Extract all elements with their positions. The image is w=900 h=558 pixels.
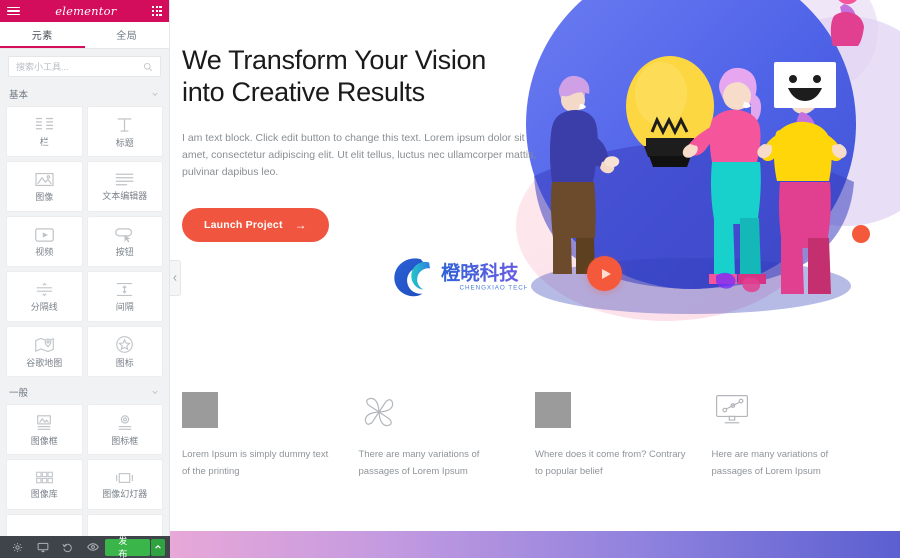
widget-label: 图像框	[31, 437, 58, 446]
bottom-gradient-band	[170, 531, 900, 558]
video-play-icon	[34, 227, 55, 243]
spacer-icon	[114, 281, 135, 298]
widget-label: 图像库	[31, 490, 58, 499]
logo-text-cn: 橙晓科技	[441, 261, 519, 284]
star-icon	[115, 335, 134, 354]
chengxiao-tech-logo: 橙晓科技 CHENGXIAO TECH	[392, 250, 527, 302]
widget-column[interactable]: 栏	[6, 106, 83, 157]
divider-icon	[34, 281, 55, 298]
image-box-icon	[34, 414, 54, 432]
elementor-brand-logo: elementor	[55, 4, 116, 18]
search-box[interactable]	[8, 56, 161, 77]
image-gallery-icon	[34, 470, 55, 485]
feature-text: There are many variations of passages of…	[359, 447, 516, 480]
feature-icon-wrap	[535, 392, 692, 438]
responsive-monitor-icon[interactable]	[30, 536, 55, 558]
search-widgets-wrap	[0, 49, 169, 83]
widget-image-box[interactable]: 图像框	[6, 404, 83, 455]
google-map-icon	[34, 336, 55, 354]
widget-label: 图像	[35, 193, 53, 202]
monitor-chart-icon	[712, 392, 752, 430]
text-editor-icon	[114, 172, 135, 187]
chevron-left-icon	[172, 274, 178, 282]
widget-text-editor[interactable]: 文本编辑器	[87, 161, 164, 212]
section-header-general[interactable]: 一般	[0, 381, 169, 403]
widget-grid-basic: 栏 标题 图像	[0, 105, 169, 381]
image-placeholder-icon	[182, 392, 218, 428]
preview-eye-icon[interactable]	[80, 536, 105, 558]
widget-image[interactable]: 图像	[6, 161, 83, 212]
feature-icon-wrap	[712, 392, 869, 438]
chevron-down-icon	[151, 388, 159, 396]
hero-paragraph: I am text block. Click edit button to ch…	[182, 130, 537, 182]
panel-tabs: 元素 全局	[0, 22, 169, 49]
widget-image-gallery[interactable]: 图像库	[6, 459, 83, 510]
widget-label: 分隔线	[31, 303, 58, 312]
widget-label: 视频	[35, 248, 53, 257]
widget-heading[interactable]: 标题	[87, 106, 164, 157]
settings-gear-icon[interactable]	[5, 536, 30, 558]
heading-t-icon	[115, 116, 134, 134]
image-icon	[34, 171, 55, 188]
caret-up-icon[interactable]	[151, 539, 165, 556]
widget-grid-general: 图像框 图标框 图像库	[0, 403, 169, 558]
icon-box-icon	[115, 414, 135, 432]
hero-text-block: We Transform Your Vision into Creative R…	[182, 44, 552, 242]
button-cursor-icon	[114, 227, 135, 243]
launch-project-button[interactable]: Launch Project →	[182, 208, 329, 242]
publish-button[interactable]: 发布	[105, 539, 149, 556]
logo-text-en: CHENGXIAO TECH	[460, 285, 528, 292]
play-icon	[602, 269, 611, 279]
widget-label: 间隔	[116, 303, 134, 312]
elementor-editor: elementor 元素 全局 基本	[0, 0, 900, 558]
widget-label: 文本编辑器	[102, 192, 147, 201]
feature-text: Lorem Ipsum is simply dummy text of the …	[182, 447, 339, 480]
arrow-right-icon: →	[295, 219, 307, 231]
search-icon	[143, 62, 153, 72]
image-placeholder-icon	[535, 392, 571, 428]
panel-footer-toolbar: 发布	[0, 536, 170, 558]
hero-section: We Transform Your Vision into Creative R…	[170, 0, 900, 380]
cta-label: Launch Project	[204, 219, 283, 231]
widget-label: 图标框	[111, 437, 138, 446]
widget-icon[interactable]: 图标	[87, 326, 164, 377]
hero-title-line2: into Creative Results	[182, 77, 425, 107]
panel-body: 基本 栏 标题	[0, 49, 169, 558]
feature-card: Here are many variations of passages of …	[712, 392, 889, 480]
panel-header: elementor	[0, 0, 169, 22]
play-video-button[interactable]	[587, 256, 622, 291]
team-ideas-illustration	[516, 0, 900, 326]
page-title: We Transform Your Vision into Creative R…	[182, 44, 552, 109]
widget-button[interactable]: 按钮	[87, 216, 164, 267]
feature-icon-wrap	[182, 392, 339, 438]
widget-google-maps[interactable]: 谷歌地图	[6, 326, 83, 377]
hamburger-icon[interactable]	[7, 7, 20, 16]
widget-image-carousel[interactable]: 图像幻灯器	[87, 459, 164, 510]
search-input[interactable]	[16, 62, 143, 72]
widget-video[interactable]: 视频	[6, 216, 83, 267]
feature-card: Where does it come from? Contrary to pop…	[535, 392, 712, 480]
section-header-basic[interactable]: 基本	[0, 83, 169, 105]
columns-icon	[34, 116, 55, 133]
panel-collapse-handle[interactable]	[170, 260, 181, 296]
widget-label: 按钮	[116, 248, 134, 257]
widget-label: 谷歌地图	[26, 359, 62, 368]
widget-label: 图标	[116, 359, 134, 368]
feature-text: Where does it come from? Contrary to pop…	[535, 447, 692, 480]
section-title-basic: 基本	[9, 87, 28, 101]
feature-text: Here are many variations of passages of …	[712, 447, 869, 480]
widget-icon-box[interactable]: 图标框	[87, 404, 164, 455]
widget-label: 标题	[116, 139, 134, 148]
feature-card: Lorem Ipsum is simply dummy text of the …	[182, 392, 359, 480]
history-undo-icon[interactable]	[55, 536, 80, 558]
tab-elements[interactable]: 元素	[0, 22, 85, 48]
widget-label: 图像幻灯器	[102, 490, 147, 499]
section-title-general: 一般	[9, 385, 28, 399]
chevron-down-icon	[151, 90, 159, 98]
page-canvas: We Transform Your Vision into Creative R…	[170, 0, 900, 558]
apps-grid-icon[interactable]	[152, 6, 162, 16]
widget-label: 栏	[40, 138, 49, 147]
feature-icon-wrap	[359, 392, 516, 438]
pinwheel-icon	[359, 392, 399, 432]
tab-global[interactable]: 全局	[85, 22, 170, 48]
widget-spacer[interactable]: 间隔	[87, 271, 164, 322]
hero-title-line1: We Transform Your Vision	[182, 45, 486, 75]
image-carousel-icon	[114, 471, 135, 485]
feature-card: There are many variations of passages of…	[359, 392, 536, 480]
widget-divider[interactable]: 分隔线	[6, 271, 83, 322]
elementor-side-panel: elementor 元素 全局 基本	[0, 0, 170, 558]
feature-cards-row: Lorem Ipsum is simply dummy text of the …	[170, 380, 900, 480]
